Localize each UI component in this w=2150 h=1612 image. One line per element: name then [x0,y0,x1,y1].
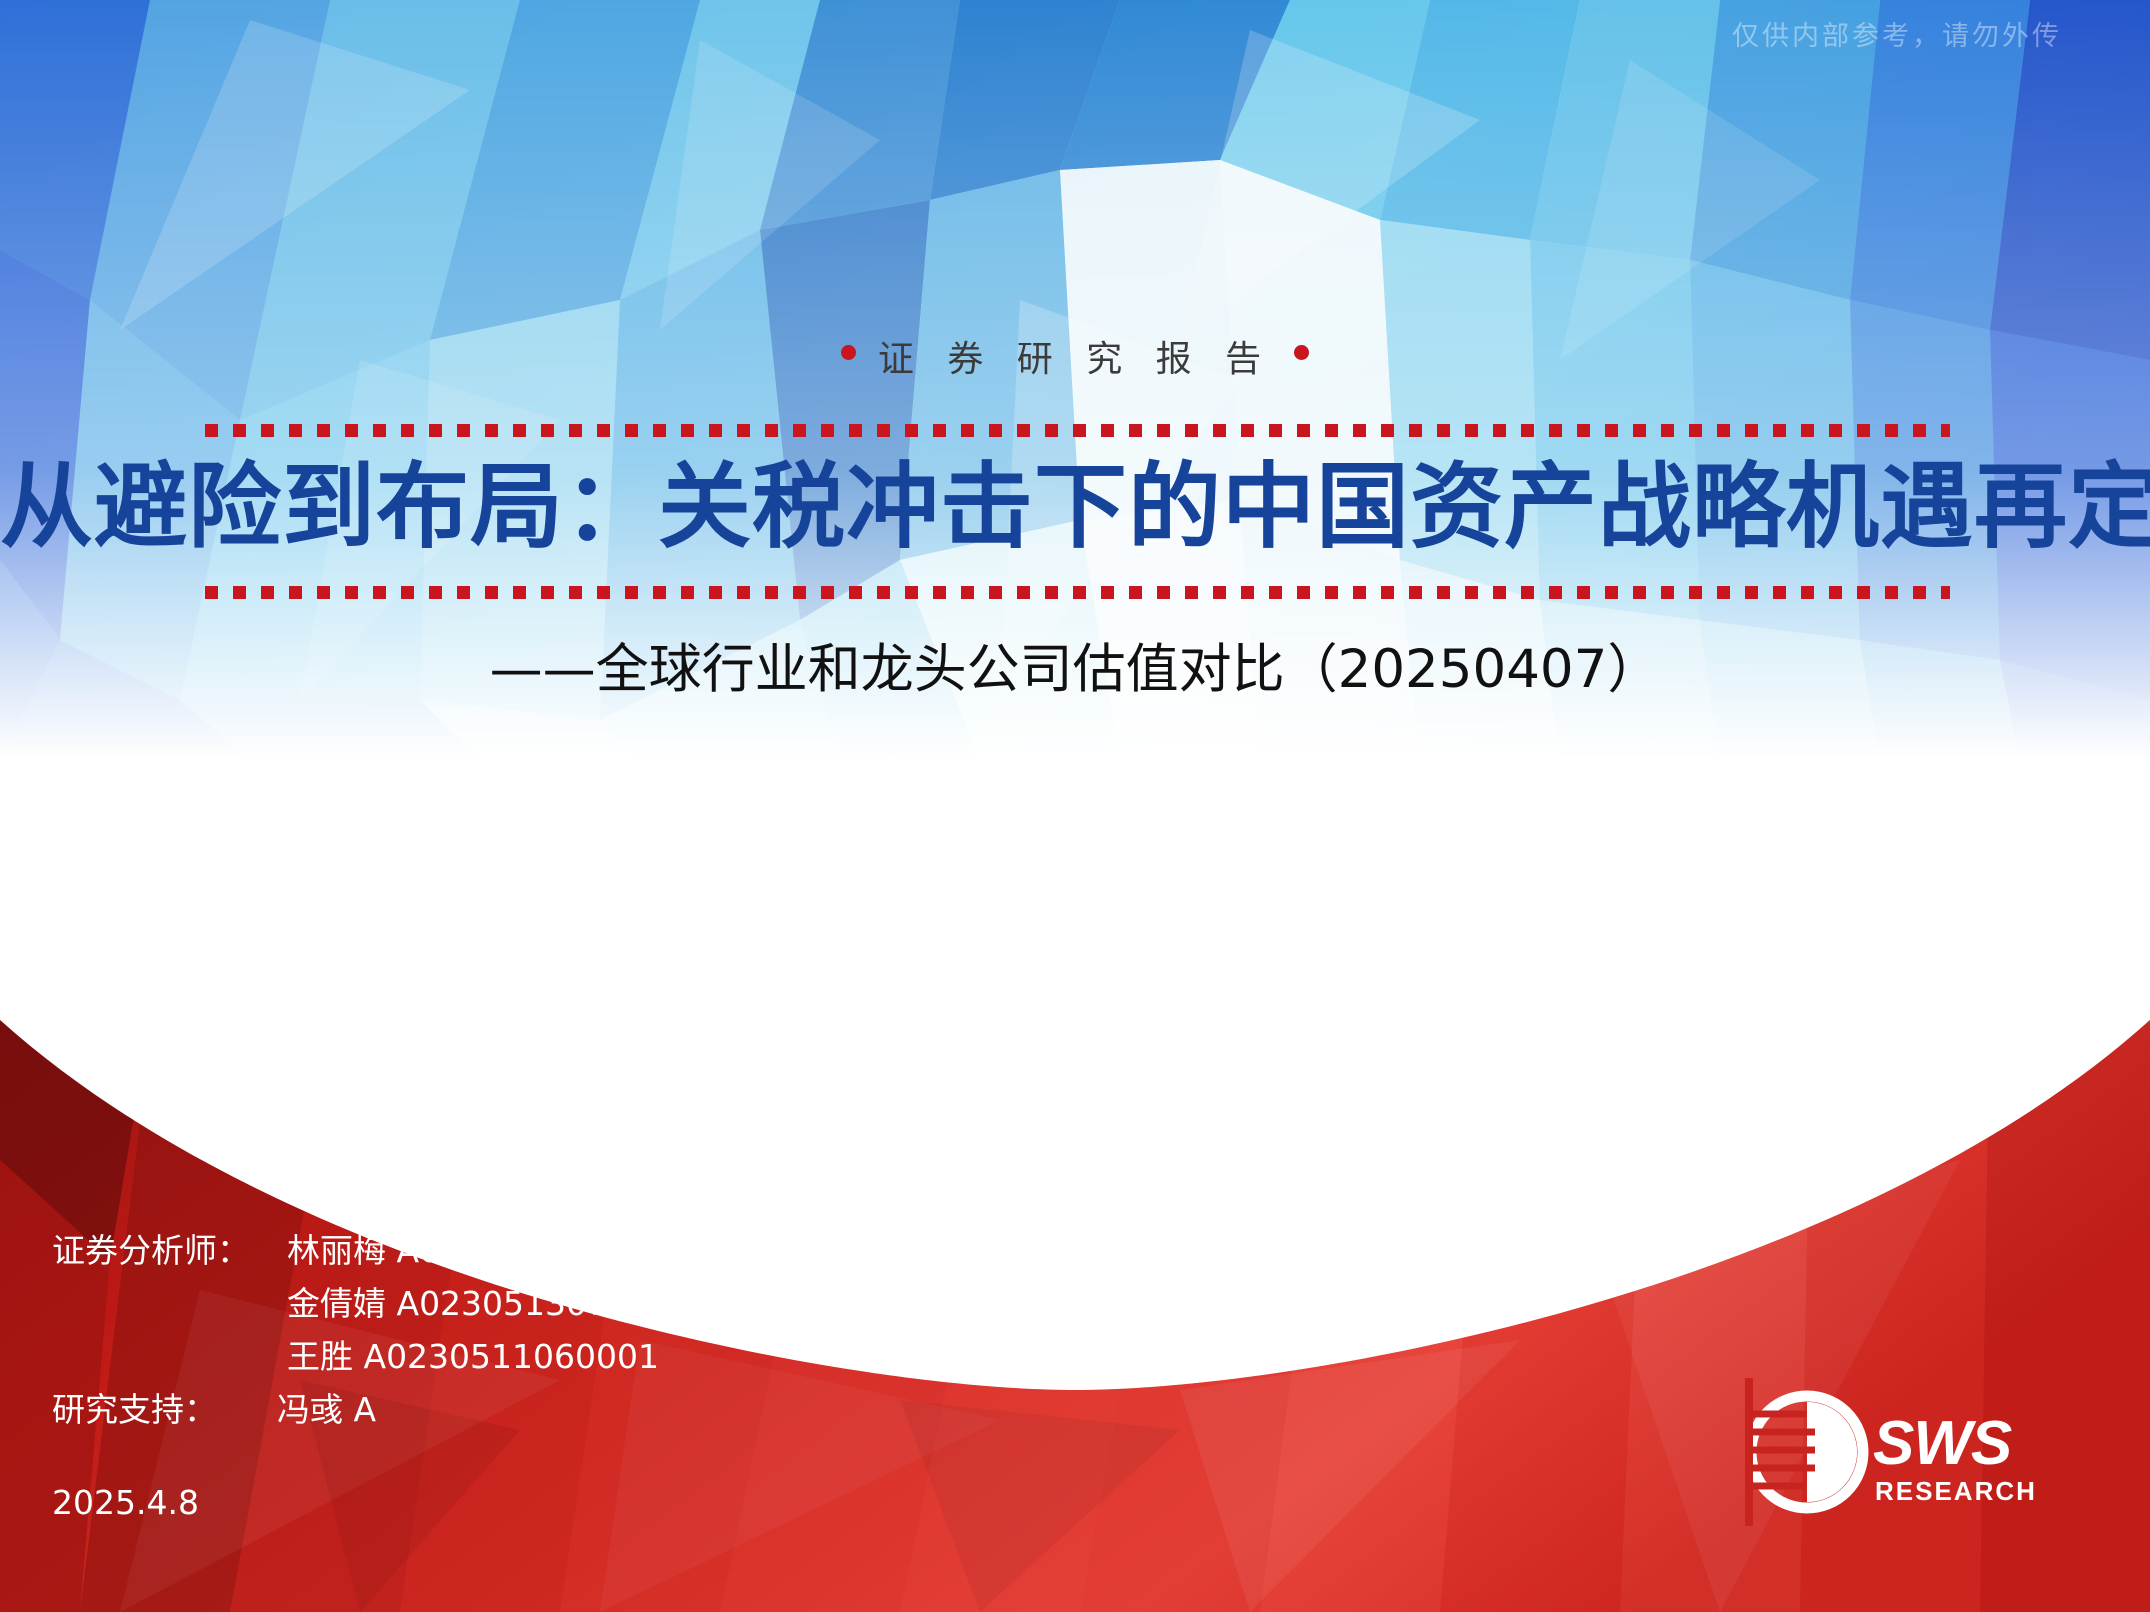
analyst-names-1: 林丽梅 A0230513090001 郝丹阳 A0230523120002 刘雅… [287,1231,1523,1270]
page-subtitle: ——全球行业和龙头公司估值对比（20250407） [0,627,2150,703]
report-kicker-label: 证 券 研 究 报 告 [878,330,1272,382]
sws-wordmark: SWS [1873,1409,2012,1478]
analyst-credits: 证券分析师：林丽梅 A0230513090001 郝丹阳 A0230523120… [52,1224,1523,1436]
sws-logo-art: SWS RESEARCH [1745,1378,2085,1526]
analyst-row-2: 金倩婧 A0230513070004 冯晓宇 A0230521080005 董易… [52,1277,1523,1330]
dotted-rule-top [205,424,1950,437]
analyst-names-2: 金倩婧 A0230513070004 冯晓宇 A0230521080005 董易… [287,1284,1490,1323]
research-support-name: 冯彧 A [277,1390,376,1429]
research-support-row: 研究支持：冯彧 A [52,1383,1523,1436]
analyst-names-3: 王胜 A0230511060001 [287,1337,659,1376]
sws-research-logo: SWS RESEARCH [1745,1378,2085,1526]
research-support-label: 研究支持： [52,1383,277,1436]
bullet-dot-right-icon [1294,345,1309,360]
sws-mark-icon [1745,1378,1863,1526]
report-date: 2025.4.8 [52,1483,199,1522]
page-title: 从避险到布局：关税冲击下的中国资产战略机遇再定价 [0,452,2150,562]
sws-subwordmark: RESEARCH [1875,1476,2037,1506]
dotted-rule-bottom [205,586,1950,599]
slide-root: 仅供内部参考，请勿外传 证 券 研 究 报 告 从避险到布局：关税冲击下的中国资… [0,0,2150,1612]
analyst-label: 证券分析师： [52,1224,287,1277]
bullet-dot-left-icon [841,345,856,360]
analyst-row-1: 证券分析师：林丽梅 A0230513090001 郝丹阳 A0230523120… [52,1224,1523,1277]
analyst-row-3: 王胜 A0230511060001 [52,1330,1523,1383]
report-kicker: 证 券 研 究 报 告 [0,330,2150,382]
